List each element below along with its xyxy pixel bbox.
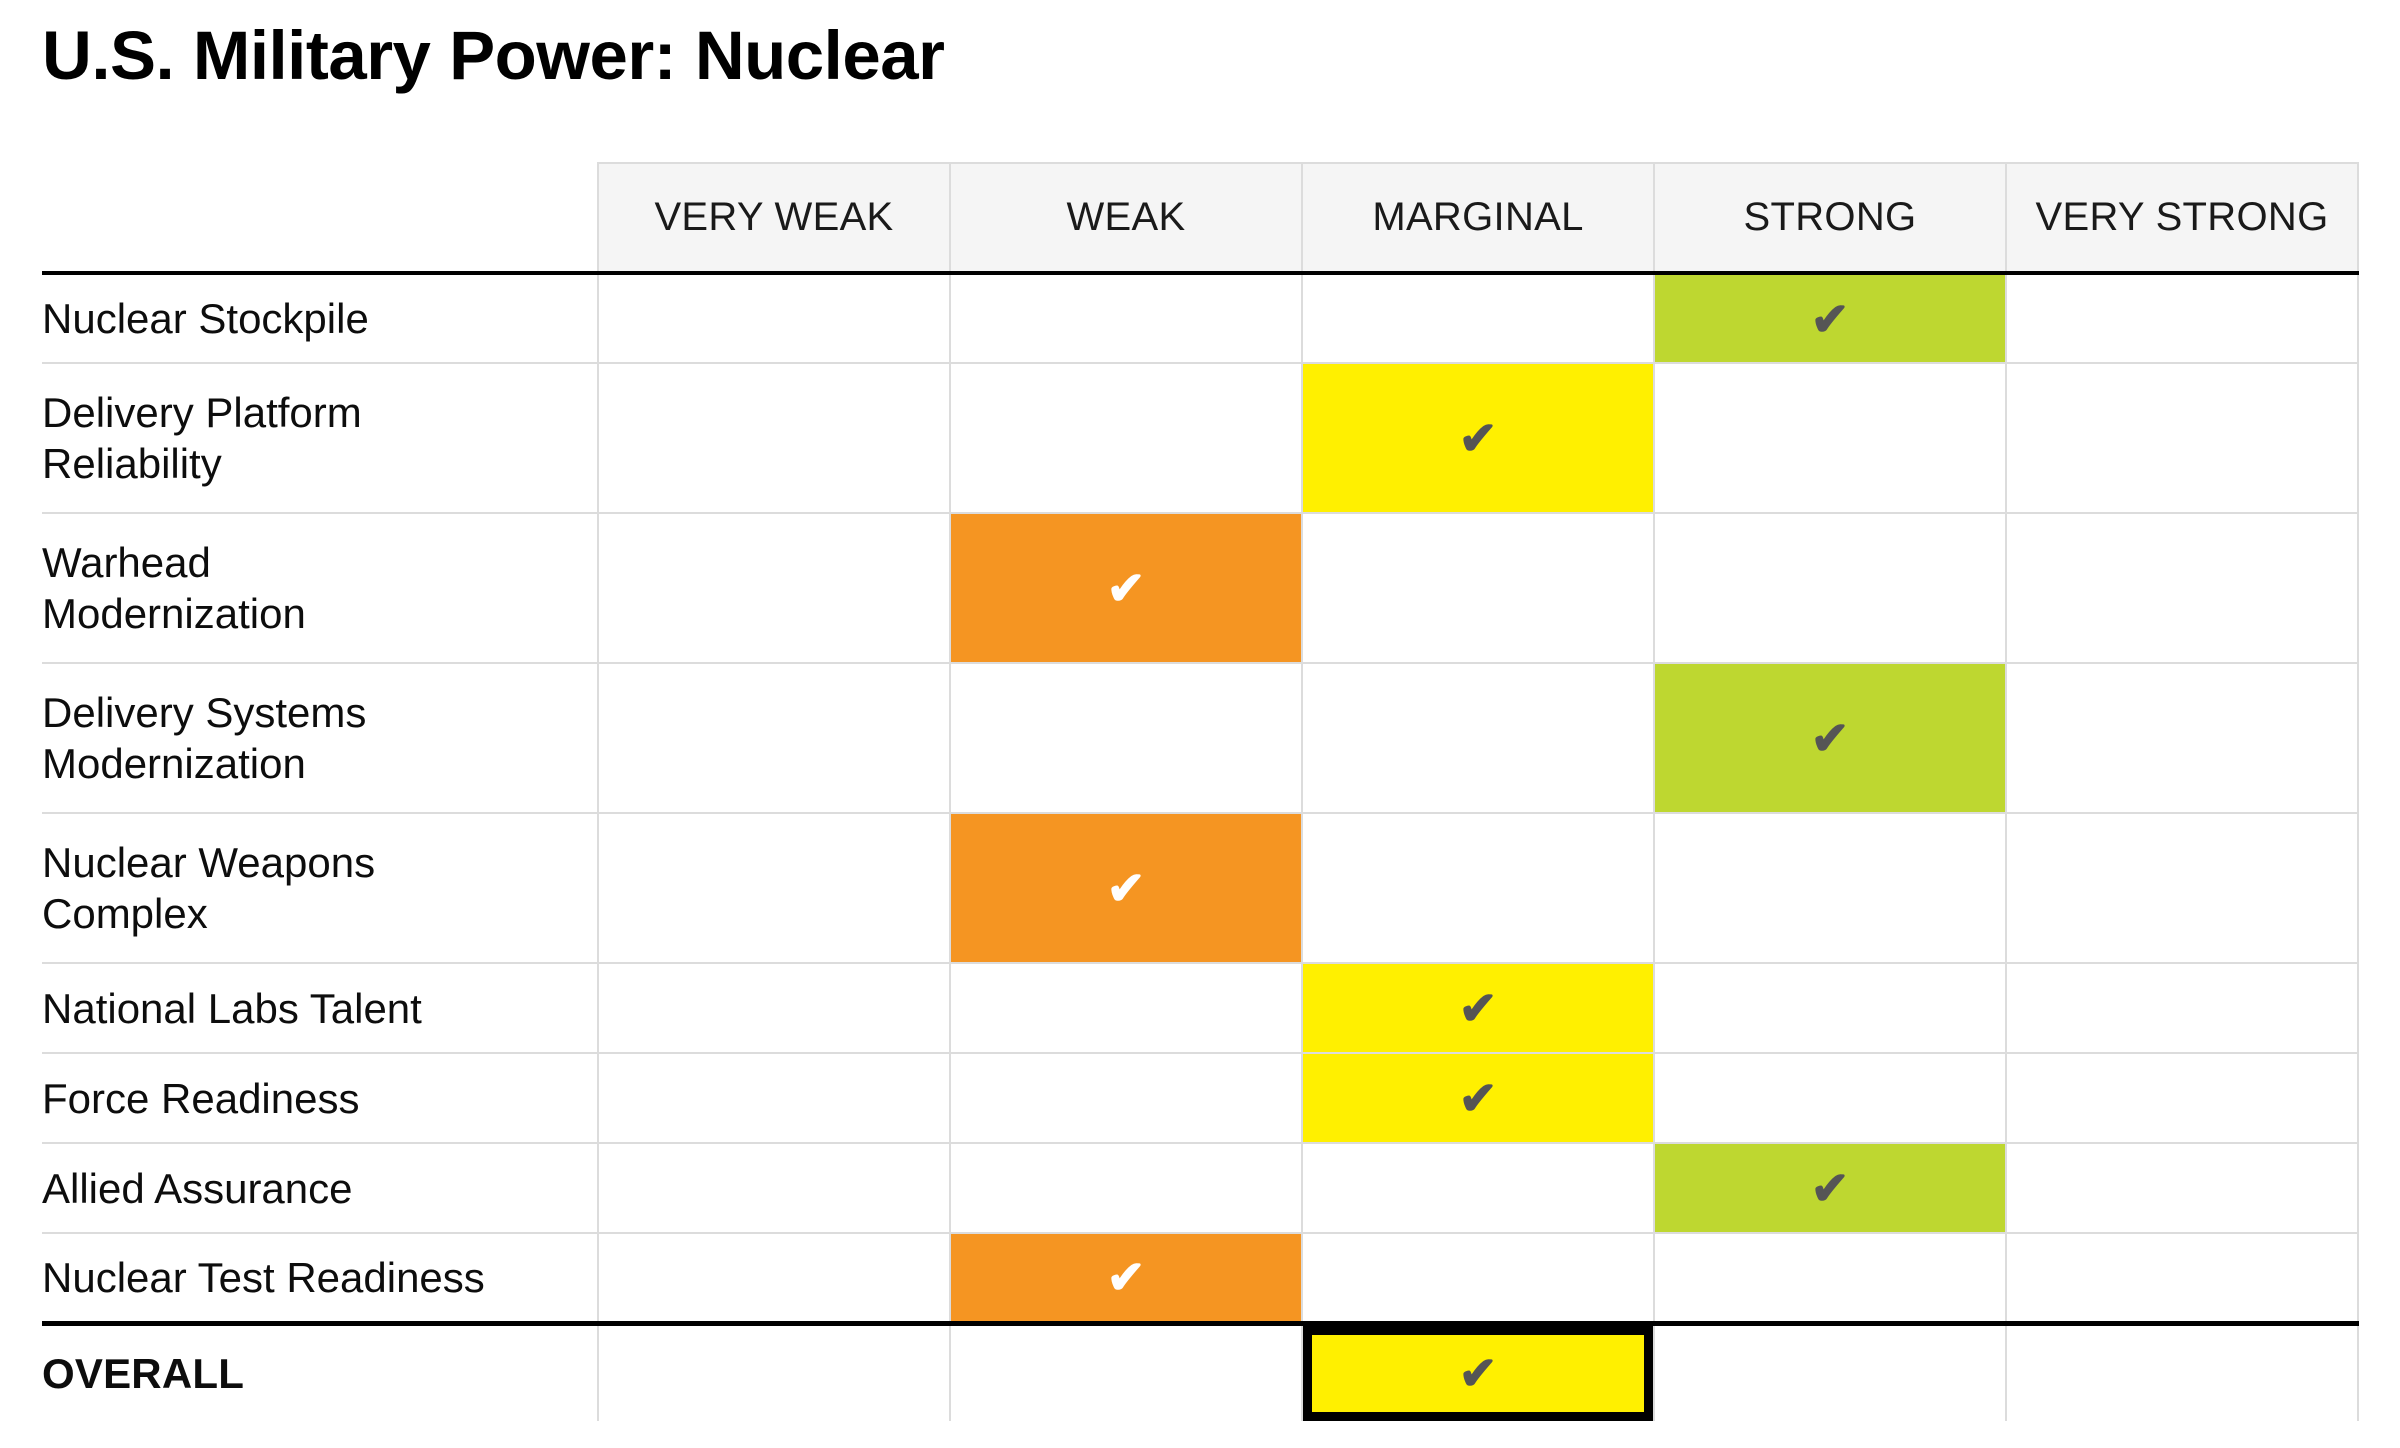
rating-cell-empty bbox=[1302, 1143, 1654, 1233]
rating-cell-empty bbox=[598, 1323, 950, 1421]
rating-cell-empty bbox=[950, 963, 1302, 1053]
rating-cell-empty bbox=[950, 663, 1302, 813]
rating-cell-marked: ✔ bbox=[950, 513, 1302, 663]
rating-cell-empty bbox=[950, 1053, 1302, 1143]
rating-cell-empty bbox=[1654, 513, 2006, 663]
rating-cell-empty bbox=[2006, 1323, 2358, 1421]
row-label-allied-assurance: Allied Assurance bbox=[42, 1143, 598, 1233]
rating-cell-empty bbox=[2006, 663, 2358, 813]
rating-cell-empty bbox=[950, 1323, 1302, 1421]
row-label-delivery-systems-modernization: Delivery SystemsModernization bbox=[42, 663, 598, 813]
rating-cell-empty bbox=[598, 963, 950, 1053]
row-label-overall: OVERALL bbox=[42, 1323, 598, 1421]
rating-cell-empty bbox=[2006, 963, 2358, 1053]
rating-fill-orange: ✔ bbox=[951, 514, 1301, 662]
check-icon: ✔ bbox=[1655, 1165, 2005, 1211]
rating-cell-empty bbox=[1654, 1323, 2006, 1421]
check-icon: ✔ bbox=[1303, 1075, 1653, 1121]
rating-cell-empty bbox=[1654, 363, 2006, 513]
rating-fill-yellow: ✔ bbox=[1303, 1054, 1653, 1142]
rating-cell-marked: ✔ bbox=[1654, 1143, 2006, 1233]
table-row: Allied Assurance✔ bbox=[42, 1143, 2358, 1233]
rating-cell-empty bbox=[598, 663, 950, 813]
row-label-national-labs-talent: National Labs Talent bbox=[42, 963, 598, 1053]
rating-cell-empty bbox=[2006, 363, 2358, 513]
rating-cell-empty bbox=[598, 1233, 950, 1323]
page-title: U.S. Military Power: Nuclear bbox=[42, 16, 944, 96]
row-label-delivery-platform-reliability: Delivery PlatformReliability bbox=[42, 363, 598, 513]
row-label-force-readiness: Force Readiness bbox=[42, 1053, 598, 1143]
rating-cell-empty bbox=[598, 813, 950, 963]
nuclear-power-scorecard: U.S. Military Power: Nuclear VERY WEAK W… bbox=[0, 0, 2400, 1448]
header-row: VERY WEAK WEAK MARGINAL STRONG VERY STRO… bbox=[42, 163, 2358, 273]
rating-cell-empty bbox=[1654, 813, 2006, 963]
table-row: Delivery PlatformReliability✔ bbox=[42, 363, 2358, 513]
row-label-line: Modernization bbox=[42, 588, 597, 639]
rating-cell-empty bbox=[2006, 273, 2358, 363]
rating-cell-empty bbox=[950, 273, 1302, 363]
rating-cell-marked: ✔ bbox=[1654, 273, 2006, 363]
table-row: WarheadModernization✔ bbox=[42, 513, 2358, 663]
check-icon: ✔ bbox=[951, 565, 1301, 611]
column-header-strong: STRONG bbox=[1654, 163, 2006, 273]
column-header-weak: WEAK bbox=[950, 163, 1302, 273]
rating-fill-yellow: ✔ bbox=[1303, 964, 1653, 1052]
row-label-line: Delivery Platform bbox=[42, 387, 597, 438]
check-icon: ✔ bbox=[1655, 715, 2005, 761]
rating-cell-empty bbox=[1302, 813, 1654, 963]
rating-cell-marked: ✔ bbox=[950, 813, 1302, 963]
matrix-body: Nuclear Stockpile✔Delivery PlatformRelia… bbox=[42, 273, 2358, 1421]
row-label-line: National Labs Talent bbox=[42, 983, 597, 1034]
row-label-line: Delivery Systems bbox=[42, 687, 597, 738]
rating-cell-empty bbox=[1302, 1233, 1654, 1323]
table-row: Force Readiness✔ bbox=[42, 1053, 2358, 1143]
row-label-line: Force Readiness bbox=[42, 1073, 597, 1124]
rating-cell-empty bbox=[1654, 1233, 2006, 1323]
assessment-matrix: VERY WEAK WEAK MARGINAL STRONG VERY STRO… bbox=[42, 162, 2359, 1421]
table-row: National Labs Talent✔ bbox=[42, 963, 2358, 1053]
row-label-line: Allied Assurance bbox=[42, 1163, 597, 1214]
header-row-label-spacer bbox=[42, 163, 598, 273]
rating-fill-yellow: ✔ bbox=[1303, 364, 1653, 512]
rating-fill-yellow: ✔ bbox=[1303, 1326, 1653, 1422]
row-label-line: Nuclear Stockpile bbox=[42, 293, 597, 344]
rating-cell-empty bbox=[2006, 1053, 2358, 1143]
row-label-line: Nuclear Weapons bbox=[42, 837, 597, 888]
rating-fill-orange: ✔ bbox=[951, 814, 1301, 962]
rating-cell-marked: ✔ bbox=[1654, 663, 2006, 813]
table-row: Nuclear Stockpile✔ bbox=[42, 273, 2358, 363]
row-label-nuclear-test-readiness: Nuclear Test Readiness bbox=[42, 1233, 598, 1323]
column-header-very-weak: VERY WEAK bbox=[598, 163, 950, 273]
rating-fill-orange: ✔ bbox=[951, 1234, 1301, 1321]
rating-cell-marked: ✔ bbox=[950, 1233, 1302, 1323]
rating-cell-marked: ✔ bbox=[1302, 363, 1654, 513]
rating-cell-marked: ✔ bbox=[1302, 1053, 1654, 1143]
row-label-nuclear-stockpile: Nuclear Stockpile bbox=[42, 273, 598, 363]
table-row: Delivery SystemsModernization✔ bbox=[42, 663, 2358, 813]
rating-cell-empty bbox=[2006, 1143, 2358, 1233]
column-header-marginal: MARGINAL bbox=[1302, 163, 1654, 273]
rating-cell-marked: ✔ bbox=[1302, 1323, 1654, 1421]
check-icon: ✔ bbox=[1303, 985, 1653, 1031]
row-label-line: Reliability bbox=[42, 438, 597, 489]
rating-fill-green: ✔ bbox=[1655, 664, 2005, 812]
row-label-warhead-modernization: WarheadModernization bbox=[42, 513, 598, 663]
matrix-header: VERY WEAK WEAK MARGINAL STRONG VERY STRO… bbox=[42, 163, 2358, 273]
rating-fill-green: ✔ bbox=[1655, 1144, 2005, 1232]
row-label-line: Modernization bbox=[42, 738, 597, 789]
rating-cell-empty bbox=[950, 363, 1302, 513]
rating-cell-empty bbox=[1302, 273, 1654, 363]
rating-cell-empty bbox=[598, 513, 950, 663]
row-label-line: Complex bbox=[42, 888, 597, 939]
check-icon: ✔ bbox=[1303, 1350, 1653, 1396]
rating-cell-empty bbox=[1302, 663, 1654, 813]
rating-cell-empty bbox=[1302, 513, 1654, 663]
row-label-line: Warhead bbox=[42, 537, 597, 588]
rating-cell-empty bbox=[598, 1053, 950, 1143]
rating-cell-empty bbox=[2006, 513, 2358, 663]
rating-cell-empty bbox=[1654, 963, 2006, 1053]
check-icon: ✔ bbox=[1655, 296, 2005, 342]
table-row: OVERALL✔ bbox=[42, 1323, 2358, 1421]
table-row: Nuclear WeaponsComplex✔ bbox=[42, 813, 2358, 963]
row-label-line: OVERALL bbox=[42, 1348, 597, 1399]
rating-fill-green: ✔ bbox=[1655, 275, 2005, 362]
table-row: Nuclear Test Readiness✔ bbox=[42, 1233, 2358, 1323]
rating-cell-empty bbox=[2006, 813, 2358, 963]
rating-cell-empty bbox=[598, 1143, 950, 1233]
check-icon: ✔ bbox=[1303, 415, 1653, 461]
column-header-very-strong: VERY STRONG bbox=[2006, 163, 2358, 273]
rating-cell-empty bbox=[2006, 1233, 2358, 1323]
rating-cell-empty bbox=[950, 1143, 1302, 1233]
row-label-line: Nuclear Test Readiness bbox=[42, 1252, 597, 1303]
rating-cell-empty bbox=[1654, 1053, 2006, 1143]
rating-cell-empty bbox=[598, 273, 950, 363]
row-label-nuclear-weapons-complex: Nuclear WeaponsComplex bbox=[42, 813, 598, 963]
check-icon: ✔ bbox=[951, 1254, 1301, 1300]
rating-cell-marked: ✔ bbox=[1302, 963, 1654, 1053]
rating-cell-empty bbox=[598, 363, 950, 513]
check-icon: ✔ bbox=[951, 865, 1301, 911]
